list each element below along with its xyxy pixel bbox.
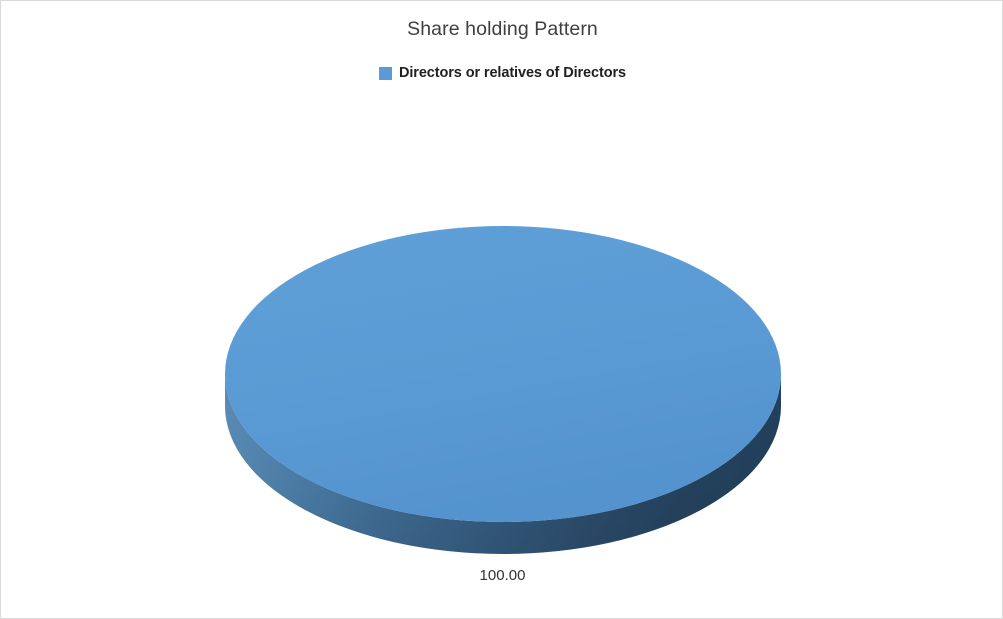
legend-swatch-icon (379, 67, 392, 80)
chart-canvas: Share holding Pattern Directors or relat… (0, 0, 1003, 619)
legend-item-directors[interactable]: Directors or relatives of Directors (379, 65, 626, 81)
chart-legend: Directors or relatives of Directors (1, 65, 1003, 81)
pie-3d-graphic (1, 1, 1003, 619)
pie-slice-directors (225, 226, 781, 522)
legend-item-label: Directors or relatives of Directors (399, 65, 626, 81)
pie-data-label: 100.00 (1, 567, 1003, 584)
pie-3d-wall (225, 374, 781, 554)
chart-title: Share holding Pattern (1, 19, 1003, 40)
